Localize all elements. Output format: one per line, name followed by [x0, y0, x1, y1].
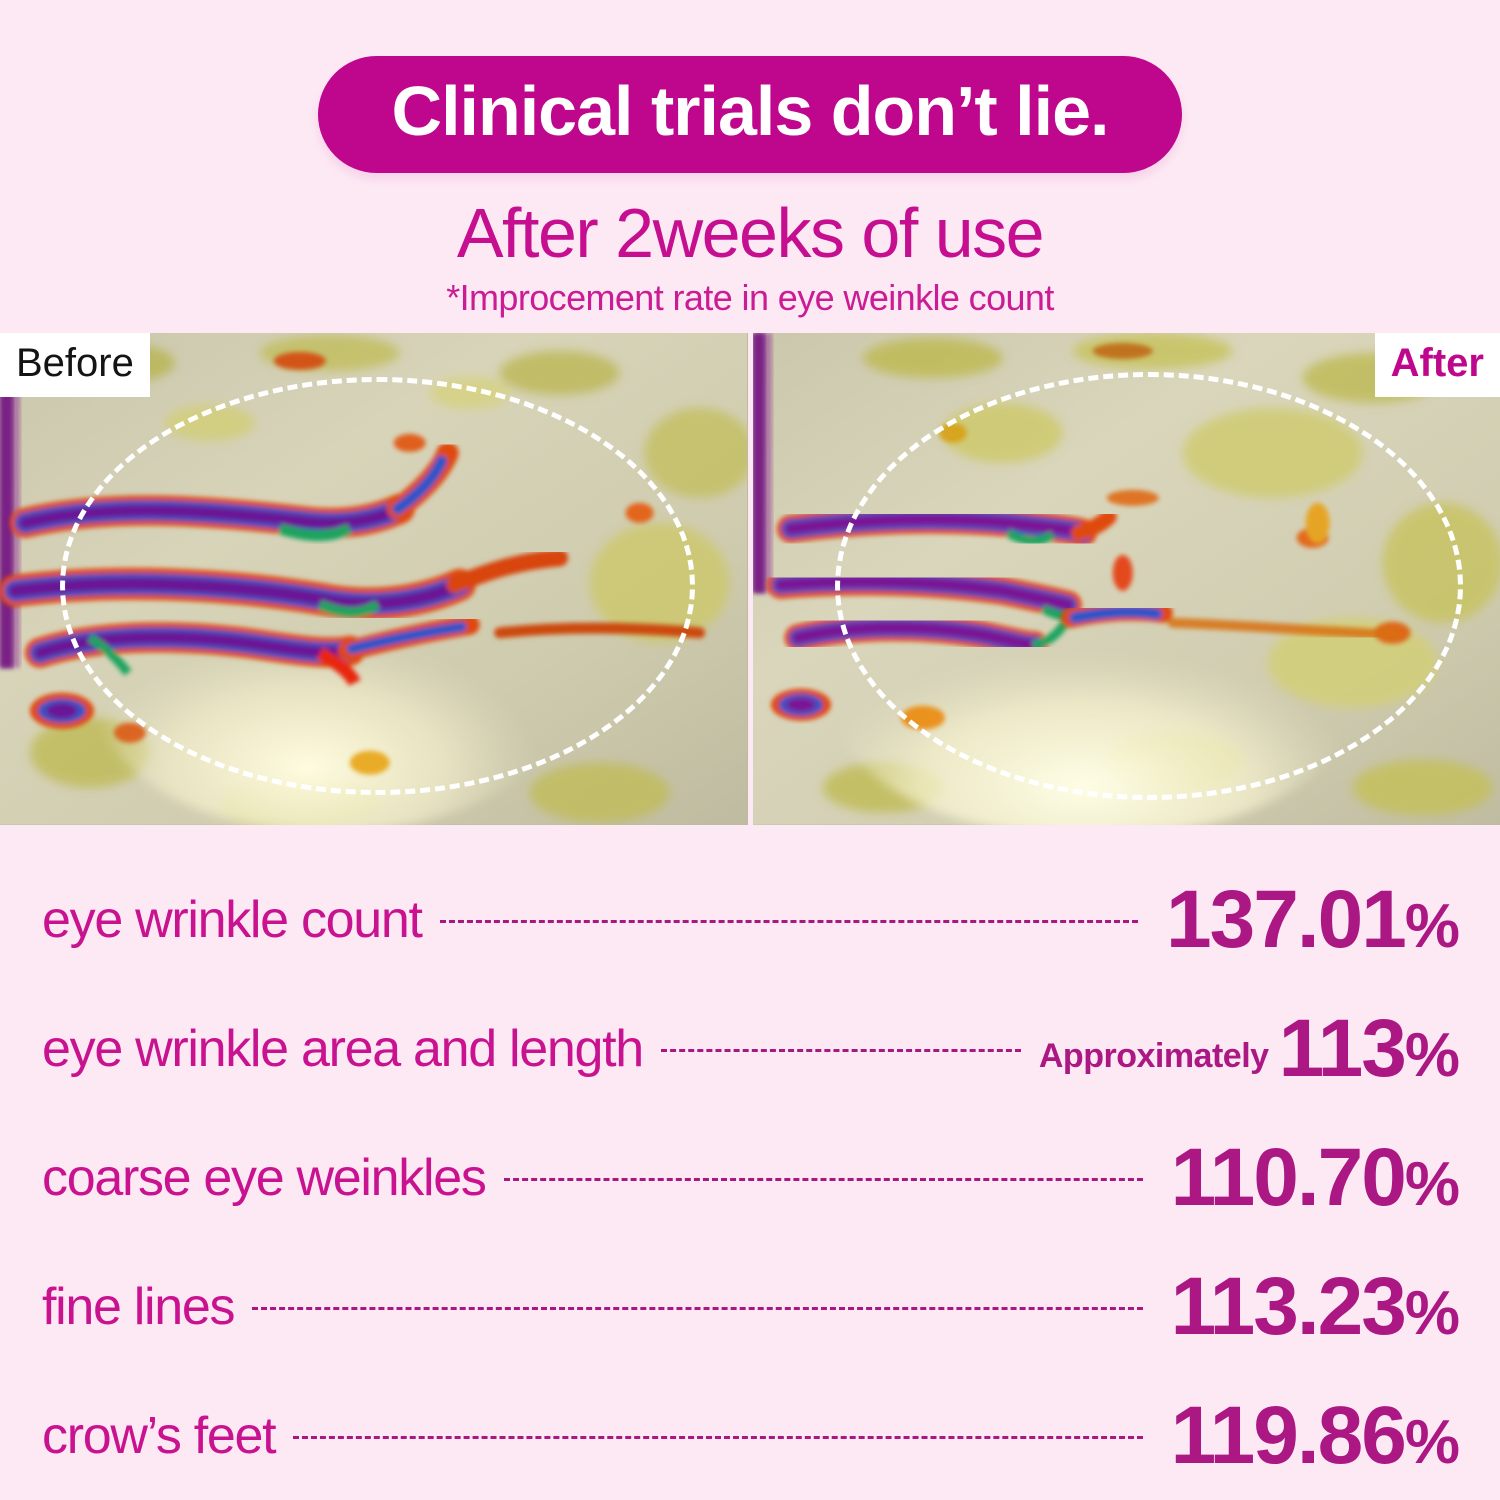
result-row: eye wrinkle count 137.01% — [42, 855, 1458, 984]
result-label: crow’s feet — [42, 1406, 275, 1466]
after-roi-ellipse — [835, 372, 1463, 800]
before-roi-ellipse — [60, 377, 695, 795]
result-value: 119.86% — [1171, 1395, 1458, 1477]
after-photo: After — [753, 333, 1500, 825]
result-number: 110.70 — [1171, 1132, 1405, 1223]
result-value: 113% — [1279, 1008, 1458, 1090]
results-list: eye wrinkle count 137.01% eye wrinkle ar… — [0, 855, 1500, 1500]
result-row: eye wrinkle area and length Approximatel… — [42, 984, 1458, 1113]
percent-sign: % — [1405, 1408, 1458, 1477]
leader-line — [252, 1307, 1142, 1310]
result-value: 113.23% — [1171, 1266, 1458, 1348]
percent-sign: % — [1405, 1021, 1458, 1090]
result-label: eye wrinkle area and length — [42, 1019, 643, 1079]
leader-line — [504, 1178, 1143, 1181]
result-label: coarse eye weinkles — [42, 1148, 486, 1208]
leader-line — [440, 920, 1138, 923]
subtitle-note: *Improcement rate in eye weinkle count — [0, 277, 1500, 319]
page-title-pill: Clinical trials don’t lie. — [318, 56, 1183, 173]
result-value: 137.01% — [1166, 879, 1458, 961]
result-label: eye wrinkle count — [42, 890, 422, 950]
before-photo: Before — [0, 333, 748, 825]
percent-sign: % — [1405, 1279, 1458, 1348]
after-label: After — [1375, 333, 1500, 397]
subtitle: After 2weeks of use — [0, 197, 1500, 271]
result-number: 119.86 — [1171, 1390, 1405, 1481]
result-prefix: Approximately — [1039, 1037, 1269, 1076]
result-number: 113.23 — [1171, 1261, 1405, 1352]
before-label: Before — [0, 333, 150, 397]
leader-line — [293, 1436, 1142, 1439]
result-label: fine lines — [42, 1277, 234, 1337]
result-number: 113 — [1279, 1003, 1405, 1094]
percent-sign: % — [1405, 1150, 1458, 1219]
result-row: fine lines 113.23% — [42, 1242, 1458, 1371]
result-value: 110.70% — [1171, 1137, 1458, 1219]
result-number: 137.01 — [1166, 874, 1405, 965]
percent-sign: % — [1405, 892, 1458, 961]
header: Clinical trials don’t lie. After 2weeks … — [0, 0, 1500, 319]
before-after-comparison: Before — [0, 333, 1500, 825]
result-row: crow’s feet 119.86% — [42, 1371, 1458, 1500]
result-row: coarse eye weinkles 110.70% — [42, 1113, 1458, 1242]
leader-line — [661, 1049, 1021, 1052]
